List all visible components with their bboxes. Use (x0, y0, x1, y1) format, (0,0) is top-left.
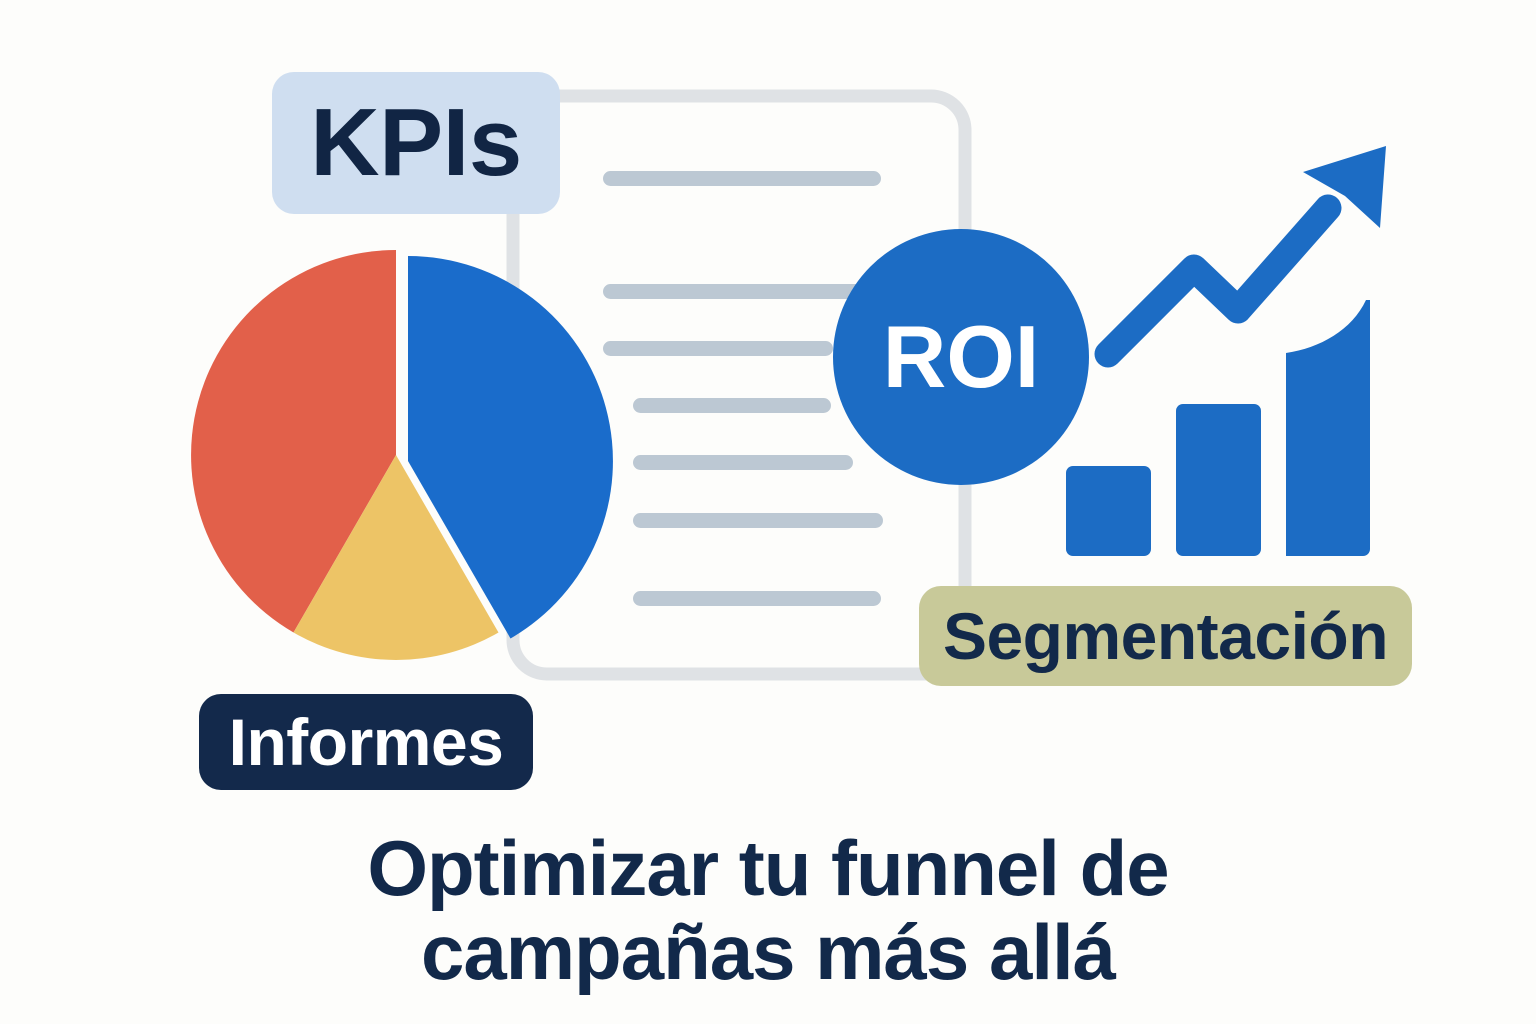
document-line (633, 513, 883, 528)
page-title: Optimizar tu funnel de campañas más allá (0, 826, 1536, 994)
pie-chart-icon (191, 250, 613, 660)
badge-kpis[interactable]: KPIs (272, 72, 560, 214)
document-line (603, 341, 833, 356)
roi-badge-label: ROI (883, 313, 1039, 401)
page-title-line-2: campañas más allá (0, 910, 1536, 994)
bar-3 (1286, 300, 1370, 556)
badge-kpis-label: KPIs (310, 95, 521, 191)
page-title-line-1: Optimizar tu funnel de (0, 826, 1536, 910)
badge-informes-label: Informes (229, 709, 504, 775)
badge-segmentacion-label: Segmentación (943, 603, 1388, 669)
document-line (603, 171, 881, 186)
bar-1 (1066, 466, 1151, 556)
poster-canvas: ROI KPIs Informes Segmentación Optimizar… (0, 0, 1536, 1024)
trend-arrow-up-icon (1108, 208, 1328, 354)
document-line (603, 284, 868, 299)
roi-badge[interactable]: ROI (833, 229, 1089, 485)
document-line (633, 455, 853, 470)
badge-segmentacion[interactable]: Segmentación (919, 586, 1412, 686)
bar-2 (1176, 404, 1261, 556)
document-line (633, 591, 881, 606)
badge-informes[interactable]: Informes (199, 694, 533, 790)
document-line (633, 398, 831, 413)
